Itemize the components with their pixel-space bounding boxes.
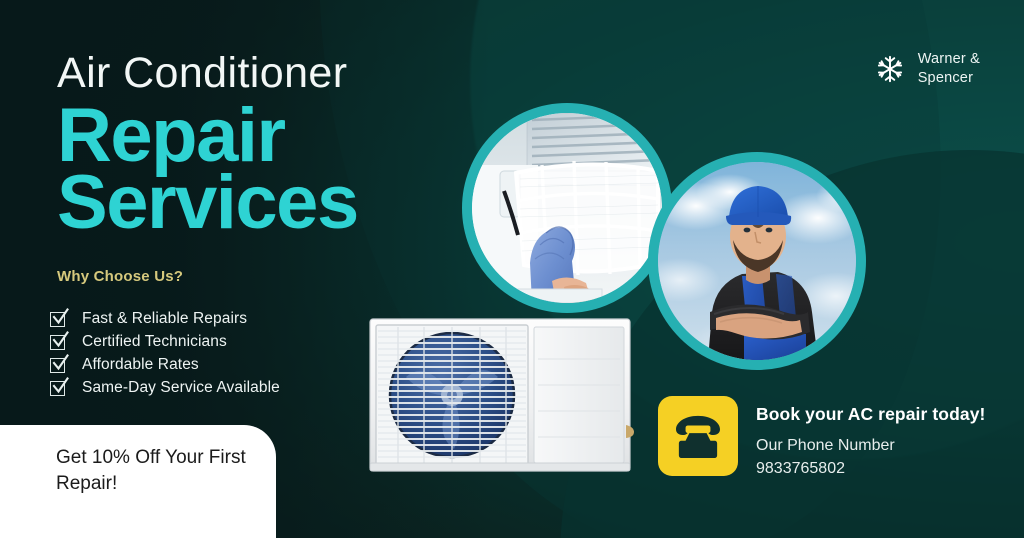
- list-item: Affordable Rates: [50, 354, 280, 376]
- photo-circle-filter-cleaning: [462, 103, 672, 313]
- cta-phone-label: Our Phone Number: [756, 434, 986, 457]
- headline-block: Air Conditioner Repair Services: [57, 52, 487, 238]
- checkbox-checked-icon: [50, 381, 65, 396]
- snowflake-icon: [875, 54, 905, 84]
- brand-name-line-2: Spencer: [918, 70, 973, 86]
- ac-repair-promo-banner: Air Conditioner Repair Services Why Choo…: [0, 0, 1024, 538]
- photo-circle-left-inner: [472, 113, 662, 303]
- feature-label: Fast & Reliable Repairs: [82, 310, 247, 328]
- feature-label: Certified Technicians: [82, 333, 227, 351]
- photo-circle-right-inner: [658, 162, 856, 360]
- checkbox-checked-icon: [50, 358, 65, 373]
- checkbox-checked-icon: [50, 335, 65, 350]
- feature-label: Affordable Rates: [82, 356, 199, 374]
- headline-line-3: Services: [57, 168, 487, 239]
- headline-line-1: Air Conditioner: [57, 52, 487, 95]
- list-item: Certified Technicians: [50, 331, 280, 353]
- feature-label: Same-Day Service Available: [82, 379, 280, 397]
- brand-name-line-1: Warner &: [918, 51, 980, 67]
- ac-condenser-unit-image: [366, 313, 636, 485]
- promo-panel: Get 10% Off Your First Repair!: [0, 425, 276, 538]
- checkbox-checked-icon: [50, 312, 65, 327]
- cta-block[interactable]: Book your AC repair today! Our Phone Num…: [658, 396, 986, 480]
- cta-heading: Book your AC repair today!: [756, 404, 986, 425]
- list-item: Fast & Reliable Repairs: [50, 308, 280, 330]
- why-choose-us-heading: Why Choose Us?: [57, 268, 183, 285]
- telephone-icon[interactable]: [658, 396, 738, 476]
- list-item: Same-Day Service Available: [50, 377, 280, 399]
- cta-phone-number[interactable]: 9833765802: [756, 457, 986, 480]
- photo-circle-technician: [648, 152, 866, 370]
- brand-logo: Warner & Spencer: [875, 50, 980, 88]
- feature-list: Fast & Reliable Repairs Certified Techni…: [50, 308, 280, 399]
- brand-name: Warner & Spencer: [918, 50, 980, 88]
- promo-text: Get 10% Off Your First Repair!: [56, 445, 256, 496]
- cta-text-block: Book your AC repair today! Our Phone Num…: [756, 396, 986, 480]
